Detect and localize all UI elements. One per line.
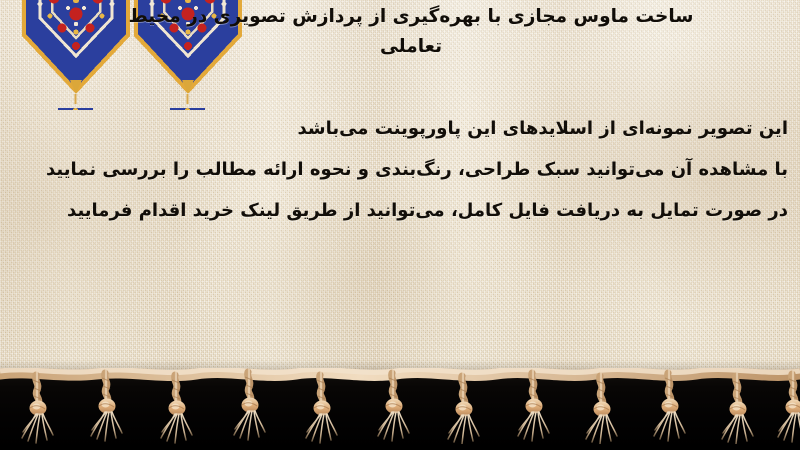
fringe-tassel bbox=[448, 376, 479, 444]
fringe-tassel bbox=[234, 372, 265, 440]
fringe-tassel bbox=[586, 376, 617, 444]
fringe-tassel bbox=[722, 376, 753, 444]
fringe-tassel bbox=[91, 373, 122, 441]
slide-body: این تصویر نمونه‌ای از اسلایدهای این پاور… bbox=[40, 108, 788, 231]
fringe-tassel bbox=[778, 374, 800, 442]
slide-title-line-2: تعاملی bbox=[40, 32, 782, 62]
fringe-tassel bbox=[22, 375, 53, 443]
fringe-tassel bbox=[161, 375, 192, 443]
body-line-2: با مشاهده آن می‌توانید سبک طراحی، رنگ‌بن… bbox=[40, 149, 788, 190]
fringe-tassel bbox=[518, 373, 549, 441]
slide-canvas: ساخت ماوس مجازی با بهره‌گیری از پردازش ت… bbox=[0, 0, 800, 450]
fringe-tassel bbox=[654, 373, 685, 441]
slide-title-line-1: ساخت ماوس مجازی با بهره‌گیری از پردازش ت… bbox=[40, 2, 782, 32]
fringe-tassel bbox=[306, 375, 337, 443]
body-line-3: در صورت تمایل به دریافت فایل کامل، می‌تو… bbox=[40, 190, 788, 231]
body-line-1: این تصویر نمونه‌ای از اسلایدهای این پاور… bbox=[40, 108, 788, 149]
carpet-knotted-fringe-icon bbox=[0, 368, 800, 444]
slide-title: ساخت ماوس مجازی با بهره‌گیری از پردازش ت… bbox=[40, 2, 782, 62]
fringe-tassel bbox=[378, 373, 409, 441]
